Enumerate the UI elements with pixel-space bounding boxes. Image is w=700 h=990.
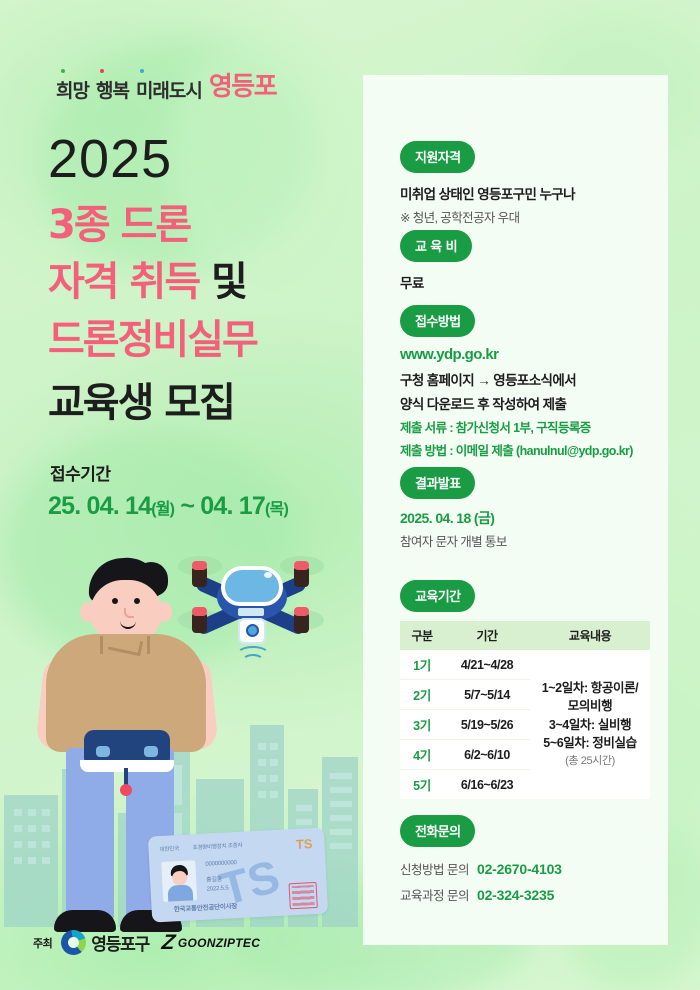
reception-start-day: (월) bbox=[151, 501, 174, 518]
motor-cap bbox=[294, 607, 309, 616]
footer: 주최 영등포구 Z GOONZIPTEC bbox=[33, 930, 260, 955]
badge-result: 결과발표 bbox=[400, 467, 475, 499]
cell-period: 5/19~5/26 bbox=[444, 710, 530, 740]
drone-motor bbox=[294, 612, 309, 633]
eye-right bbox=[134, 598, 140, 604]
drone-lens bbox=[246, 624, 259, 637]
col-header-no: 구분 bbox=[400, 621, 444, 650]
signal-wave-icon bbox=[242, 654, 264, 668]
badge-schedule: 교육기간 bbox=[400, 580, 475, 612]
reception-tilde: ~ bbox=[174, 492, 200, 520]
content-line-4: 5~6일차: 정비실습 bbox=[543, 736, 636, 750]
drone-motor bbox=[192, 612, 207, 633]
card-country: 대한민국 bbox=[159, 844, 179, 853]
section-apply: 접수방법 www.ydp.go.kr 구청 홈페이지 → 영등포소식에서 양식 … bbox=[400, 305, 650, 459]
drone-motor bbox=[294, 566, 309, 587]
tel-number[interactable]: 02-2670-4103 bbox=[477, 861, 562, 877]
headline-line-2-pink: 자격 취득 bbox=[48, 259, 199, 305]
drone-illustration bbox=[176, 550, 326, 660]
cell-period: 6/2~6/10 bbox=[444, 740, 530, 770]
cell-period: 4/21~4/28 bbox=[444, 650, 530, 680]
card-date: 2022.5.5 bbox=[207, 886, 229, 893]
city-name: 영등포 bbox=[209, 66, 276, 103]
reception-end-date: 04. 17 bbox=[200, 492, 265, 520]
apply-documents: 제출 서류 : 참가신청서 1부, 구직등록증 bbox=[400, 417, 650, 436]
tel-row: 교육과정 문의 02-324-3235 bbox=[400, 885, 650, 904]
tel-number[interactable]: 02-324-3235 bbox=[477, 887, 554, 903]
section-fee: 교 육 비 무료 bbox=[400, 230, 650, 292]
slogan-dot-red bbox=[100, 69, 104, 73]
cell-no: 5기 bbox=[400, 770, 444, 800]
slogan-dot-blue bbox=[140, 69, 144, 73]
reception-start-date: 25. 04. 14 bbox=[48, 492, 151, 520]
info-panel: 지원자격 미취업 상태인 영등포구민 누구나 ※ 청년, 공학전공자 우대 교 … bbox=[363, 75, 668, 945]
shoe-left bbox=[54, 910, 116, 932]
section-eligibility: 지원자격 미취업 상태인 영등포구민 누구나 ※ 청년, 공학전공자 우대 bbox=[400, 141, 650, 226]
card-name: 홍길동 bbox=[206, 874, 222, 884]
cell-no: 4기 bbox=[400, 740, 444, 770]
leg-left bbox=[66, 748, 114, 920]
headline-line-4: 교육생 모집 bbox=[48, 383, 234, 423]
eligibility-note: ※ 청년, 공학전공자 우대 bbox=[400, 207, 650, 226]
content-line-3: 3~4일차: 실비행 bbox=[549, 718, 631, 732]
slogan-word-2: 행복 bbox=[96, 76, 129, 103]
result-date: 2025. 04. 18 (금) bbox=[400, 508, 650, 528]
section-schedule: 교육기간 구분 기간 교육내용 1기 4/21~4/28 1~2일차: 항공이론… bbox=[400, 580, 650, 799]
slogan-dot-green bbox=[61, 69, 65, 73]
ydp-logo: 영등포구 bbox=[61, 930, 149, 955]
section-result: 결과발표 2025. 04. 18 (금) 참여자 문자 개별 통보 bbox=[400, 467, 650, 550]
col-header-content: 교육내용 bbox=[530, 621, 650, 650]
tel-label: 교육과정 문의 bbox=[400, 885, 469, 904]
headline-line-2-dark: 및 bbox=[211, 259, 246, 305]
content-line-1: 1~2일차: 항공이론/ bbox=[542, 681, 639, 695]
drone-license-card: 대한민국 초경량비행장치 조종자 TS TS 0000000000 홍길동 20… bbox=[148, 827, 328, 922]
motor-cap bbox=[294, 561, 309, 570]
eye-left bbox=[112, 598, 118, 604]
tel-label: 신청방법 문의 bbox=[400, 859, 469, 878]
cell-period: 5/7~5/14 bbox=[444, 680, 530, 710]
cell-no: 1기 bbox=[400, 650, 444, 680]
joystick-right bbox=[144, 746, 158, 757]
headline-line-2: 자격 취득 및 bbox=[48, 262, 246, 302]
partner-logo: Z GOONZIPTEC bbox=[162, 931, 260, 955]
result-note: 참여자 문자 개별 통보 bbox=[400, 531, 650, 550]
apply-method: 제출 방법 : 이메일 제출 (hanulnul@ydp.go.kr) bbox=[400, 440, 650, 459]
eligibility-main: 미취업 상태인 영등포구민 누구나 bbox=[400, 183, 650, 203]
slogan-word-1: 희망 bbox=[56, 76, 89, 103]
partner-name: GOONZIPTEC bbox=[178, 936, 260, 950]
motor-cap bbox=[192, 607, 207, 616]
ydp-emblem-icon bbox=[61, 930, 86, 955]
apply-url[interactable]: www.ydp.go.kr bbox=[400, 346, 650, 363]
reception-period-value: 25. 04. 14(월) ~ 04. 17(목) bbox=[48, 492, 288, 521]
card-photo bbox=[161, 860, 197, 902]
content-total-hours: (총 25시간) bbox=[534, 754, 646, 770]
nose-shape bbox=[124, 608, 134, 618]
headline-line-3: 드론정비실무 bbox=[48, 320, 257, 360]
city-slogan-logo: 희망 행복 미래도시 영등포 bbox=[56, 66, 276, 103]
cell-no: 3기 bbox=[400, 710, 444, 740]
section-tel: 전화문의 신청방법 문의 02-2670-4103 교육과정 문의 02-324… bbox=[400, 815, 650, 904]
motor-cap bbox=[192, 561, 207, 570]
headline-year: 2025 bbox=[48, 132, 172, 186]
cell-content: 1~2일차: 항공이론/ 모의비행 3~4일차: 실비행 5~6일차: 정비실습… bbox=[530, 650, 650, 799]
ydp-org-name: 영등포구 bbox=[91, 930, 149, 955]
photo-face bbox=[172, 871, 188, 886]
card-stamp-icon bbox=[289, 882, 318, 909]
table-header-row: 구분 기간 교육내용 bbox=[400, 621, 650, 650]
host-label: 주최 bbox=[33, 935, 52, 951]
reception-period-label: 접수기간 bbox=[50, 460, 111, 485]
joystick-left bbox=[96, 746, 110, 757]
card-type: 초경량비행장치 조종자 bbox=[192, 841, 242, 852]
apply-step-1: 구청 홈페이지 → 영등포소식에서 bbox=[400, 369, 650, 389]
remote-controller-icon bbox=[84, 730, 170, 764]
reception-end-day: (목) bbox=[265, 501, 288, 518]
apply-step-2: 양식 다운로드 후 작성하여 제출 bbox=[400, 393, 650, 413]
illustration: 대한민국 초경량비행장치 조종자 TS TS 0000000000 홍길동 20… bbox=[0, 540, 360, 945]
content-line-2: 모의비행 bbox=[568, 699, 612, 713]
slogan-word-3: 미래도시 bbox=[136, 76, 202, 103]
drone-vent bbox=[238, 608, 264, 616]
schedule-table: 구분 기간 교육내용 1기 4/21~4/28 1~2일차: 항공이론/ 모의비… bbox=[400, 621, 650, 799]
drone-dome bbox=[221, 566, 283, 606]
controller-antenna-tip bbox=[120, 784, 132, 796]
drone-highlight bbox=[264, 572, 272, 578]
photo-body bbox=[167, 884, 193, 901]
badge-eligibility: 지원자격 bbox=[400, 141, 475, 173]
partner-mark-icon: Z bbox=[160, 931, 176, 955]
cell-period: 6/16~6/23 bbox=[444, 770, 530, 800]
tel-row: 신청방법 문의 02-2670-4103 bbox=[400, 859, 650, 878]
cell-no: 2기 bbox=[400, 680, 444, 710]
table-row: 1기 4/21~4/28 1~2일차: 항공이론/ 모의비행 3~4일차: 실비… bbox=[400, 650, 650, 680]
card-brand-ts: TS bbox=[295, 836, 312, 852]
badge-tel: 전화문의 bbox=[400, 815, 475, 847]
poster-root: 희망 행복 미래도시 영등포 2025 3종 드론 자격 취득 및 드론정비실무… bbox=[0, 0, 700, 990]
drone-motor bbox=[192, 566, 207, 587]
headline-line-1: 3종 드론 bbox=[48, 205, 190, 245]
badge-apply: 접수방법 bbox=[400, 305, 475, 337]
badge-fee: 교 육 비 bbox=[400, 230, 472, 262]
col-header-period: 기간 bbox=[444, 621, 530, 650]
collar-shape bbox=[100, 636, 150, 654]
fee-main: 무료 bbox=[400, 272, 650, 292]
